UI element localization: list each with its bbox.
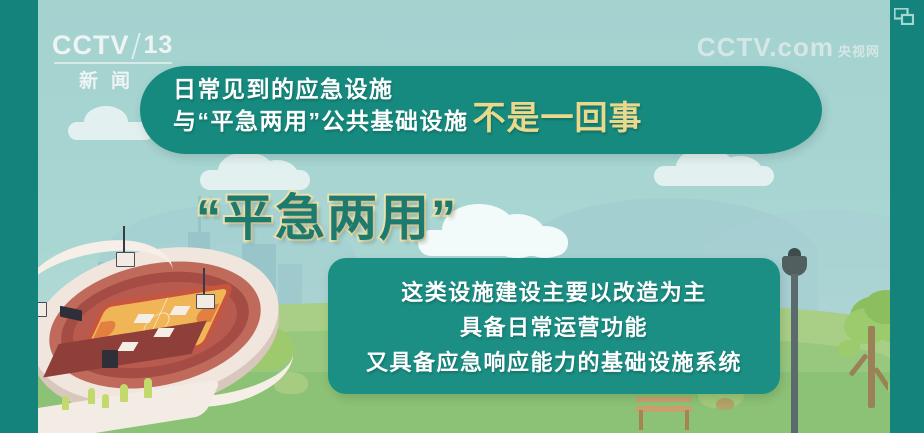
banner-line-2: 与“平急两用”公共基础设施 [173,108,469,135]
page-title: “平急两用” [196,178,458,250]
description-line: 这类设施建设主要以改造为主 [401,275,707,307]
shrub [88,388,95,404]
shrub [120,384,128,402]
headline-banner: 日常见到的应急设施 与“平急两用”公共基础设施 不是一回事 [140,66,822,154]
stadium-illustration [38,246,324,433]
cctv13-channel-logo: CCTV 13 新闻 [52,32,173,93]
cctv-wordmark: CCTV [52,32,130,59]
shrub [62,396,69,410]
channel-name-cn: 新闻 [52,66,170,93]
bush-stump [716,398,734,410]
logo-slash-icon [131,33,140,59]
watermark-cn: 央视网 [838,44,880,59]
cctv-com-watermark: CCTV.com央视网 [697,34,880,60]
watermark-main: CCTV.com [697,32,834,62]
shrub [144,378,152,398]
left-teal-band [0,0,38,433]
shrub [102,394,109,408]
description-line: 又具备应急响应能力的基础设施系统 [366,345,742,377]
logo-underline [54,62,172,64]
window-restore-icon[interactable] [894,8,914,25]
right-teal-band [890,0,924,433]
banner-highlight: 不是一回事 [473,103,643,133]
description-line: 具备日常运营功能 [460,310,648,342]
scoreboard [102,350,118,368]
channel-number: 13 [144,33,174,58]
description-box: 这类设施建设主要以改造为主 具备日常运营功能 又具备应急响应能力的基础设施系统 [328,258,780,394]
video-frame: CCTV 13 新闻 CCTV.com央视网 日常见到的应急设施 与“平急两用”… [0,0,924,433]
